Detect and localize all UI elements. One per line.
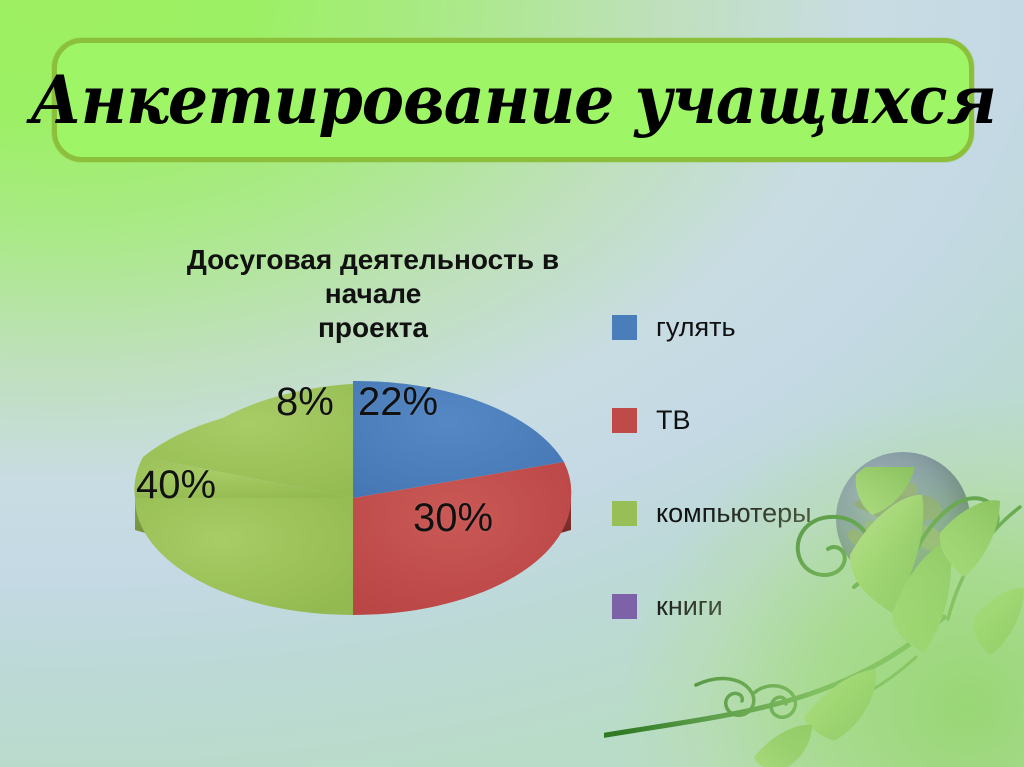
legend-swatch-icon-books [612,594,637,619]
legend-label-books: книги [656,591,723,622]
pie-value-label-books: 8% [276,380,334,425]
pie-value-label-computers: 40% [136,463,216,508]
chart-legend: гулять ТВ компьютеры книги [612,281,872,653]
legend-item-books: книги [612,560,872,653]
slide-title-banner: Анкетирование учащихся [52,38,974,162]
legend-label-computers: компьютеры [656,498,812,529]
legend-swatch-icon-tv [612,408,637,433]
chart-title-line1: Досуговая деятельность в начале [158,243,588,311]
legend-item-computers: компьютеры [612,467,872,560]
globe-icon [836,452,970,586]
pie-slice-computers-bottom [135,498,353,615]
slide-canvas: Анкетирование учащихся Досуговая деятель… [0,0,1024,767]
chart-title: Досуговая деятельность в начале проекта [158,243,588,345]
legend-label-tv: ТВ [656,405,691,436]
legend-swatch-icon-computers [612,501,637,526]
legend-label-walk: гулять [656,312,736,343]
page-title: Анкетирование учащихся [30,61,996,139]
legend-item-walk: гулять [612,281,872,374]
legend-swatch-icon-walk [612,315,637,340]
pie-value-label-tv: 30% [413,496,493,541]
pie-chart: 8% 22% 30% 40% [118,358,588,623]
chart-title-line2: проекта [158,311,588,345]
legend-item-tv: ТВ [612,374,872,467]
pie-value-label-walk: 22% [358,380,438,425]
globe-continents [836,452,970,586]
